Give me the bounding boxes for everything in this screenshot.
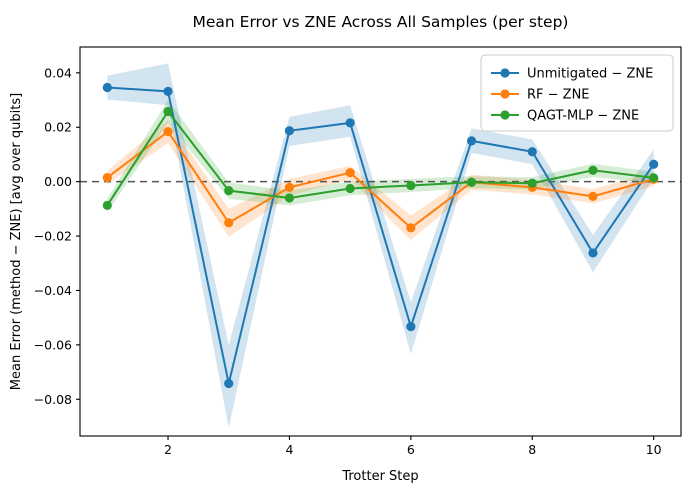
legend-marker-3 [500, 110, 509, 119]
x-tick-label-2: 2 [164, 442, 172, 457]
data-point-s1-x8 [528, 147, 537, 156]
y-tick-label-1: 0.02 [44, 120, 72, 135]
legend-marker-2 [500, 89, 509, 98]
data-point-s1-x6 [406, 322, 415, 331]
data-point-s1-x9 [588, 248, 597, 257]
legend-label-3: QAGT-MLP − ZNE [527, 109, 639, 124]
y-tick-label-2: 0.00 [44, 174, 72, 189]
data-point-s1-x10 [649, 160, 658, 169]
chart-title: Mean Error vs ZNE Across All Samples (pe… [193, 13, 569, 31]
legend-label-1: Unmitigated − ZNE [527, 67, 653, 82]
data-point-s3-x1 [103, 201, 112, 210]
data-point-s3-x9 [588, 166, 597, 175]
legend-marker-1 [500, 68, 509, 77]
data-point-s1-x5 [346, 118, 355, 127]
legend-label-2: RF − ZNE [527, 88, 590, 103]
x-tick-label-4: 4 [285, 442, 293, 457]
x-tick-label-10: 10 [646, 442, 662, 457]
data-point-s3-x3 [224, 186, 233, 195]
data-point-s3-x6 [406, 181, 415, 190]
y-axis-label: Mean Error (method − ZNE) [avg over qubi… [9, 93, 24, 390]
y-tick-label-4: −0.04 [34, 283, 72, 298]
figure-canvas: 2468100.040.020.00−0.02−0.04−0.06−0.08 M… [0, 0, 700, 500]
data-point-s2-x4 [285, 183, 294, 192]
y-tick-label-5: −0.06 [34, 337, 72, 352]
y-tick-label-6: −0.08 [34, 392, 72, 407]
data-point-s1-x2 [163, 87, 172, 96]
data-point-s3-x7 [467, 178, 476, 187]
data-point-s3-x4 [285, 193, 294, 202]
data-point-s1-x4 [285, 126, 294, 135]
data-point-s1-x7 [467, 136, 476, 145]
data-point-s2-x5 [346, 168, 355, 177]
data-point-s2-x6 [406, 223, 415, 232]
x-tick-label-6: 6 [407, 442, 415, 457]
data-point-s1-x3 [224, 379, 233, 388]
data-point-s3-x8 [528, 179, 537, 188]
data-point-s2-x2 [163, 127, 172, 136]
data-point-s2-x1 [103, 173, 112, 182]
chart-svg: 2468100.040.020.00−0.02−0.04−0.06−0.08 M… [0, 0, 700, 500]
x-axis-label: Trotter Step [341, 469, 418, 484]
data-point-s3-x5 [346, 184, 355, 193]
y-tick-label-3: −0.02 [34, 229, 72, 244]
data-point-s1-x1 [103, 83, 112, 92]
data-point-s2-x9 [588, 192, 597, 201]
data-point-s2-x3 [224, 218, 233, 227]
y-tick-label-0: 0.04 [44, 65, 72, 80]
x-tick-label-8: 8 [528, 442, 536, 457]
data-point-s3-x2 [163, 107, 172, 116]
data-point-s3-x10 [649, 173, 658, 182]
